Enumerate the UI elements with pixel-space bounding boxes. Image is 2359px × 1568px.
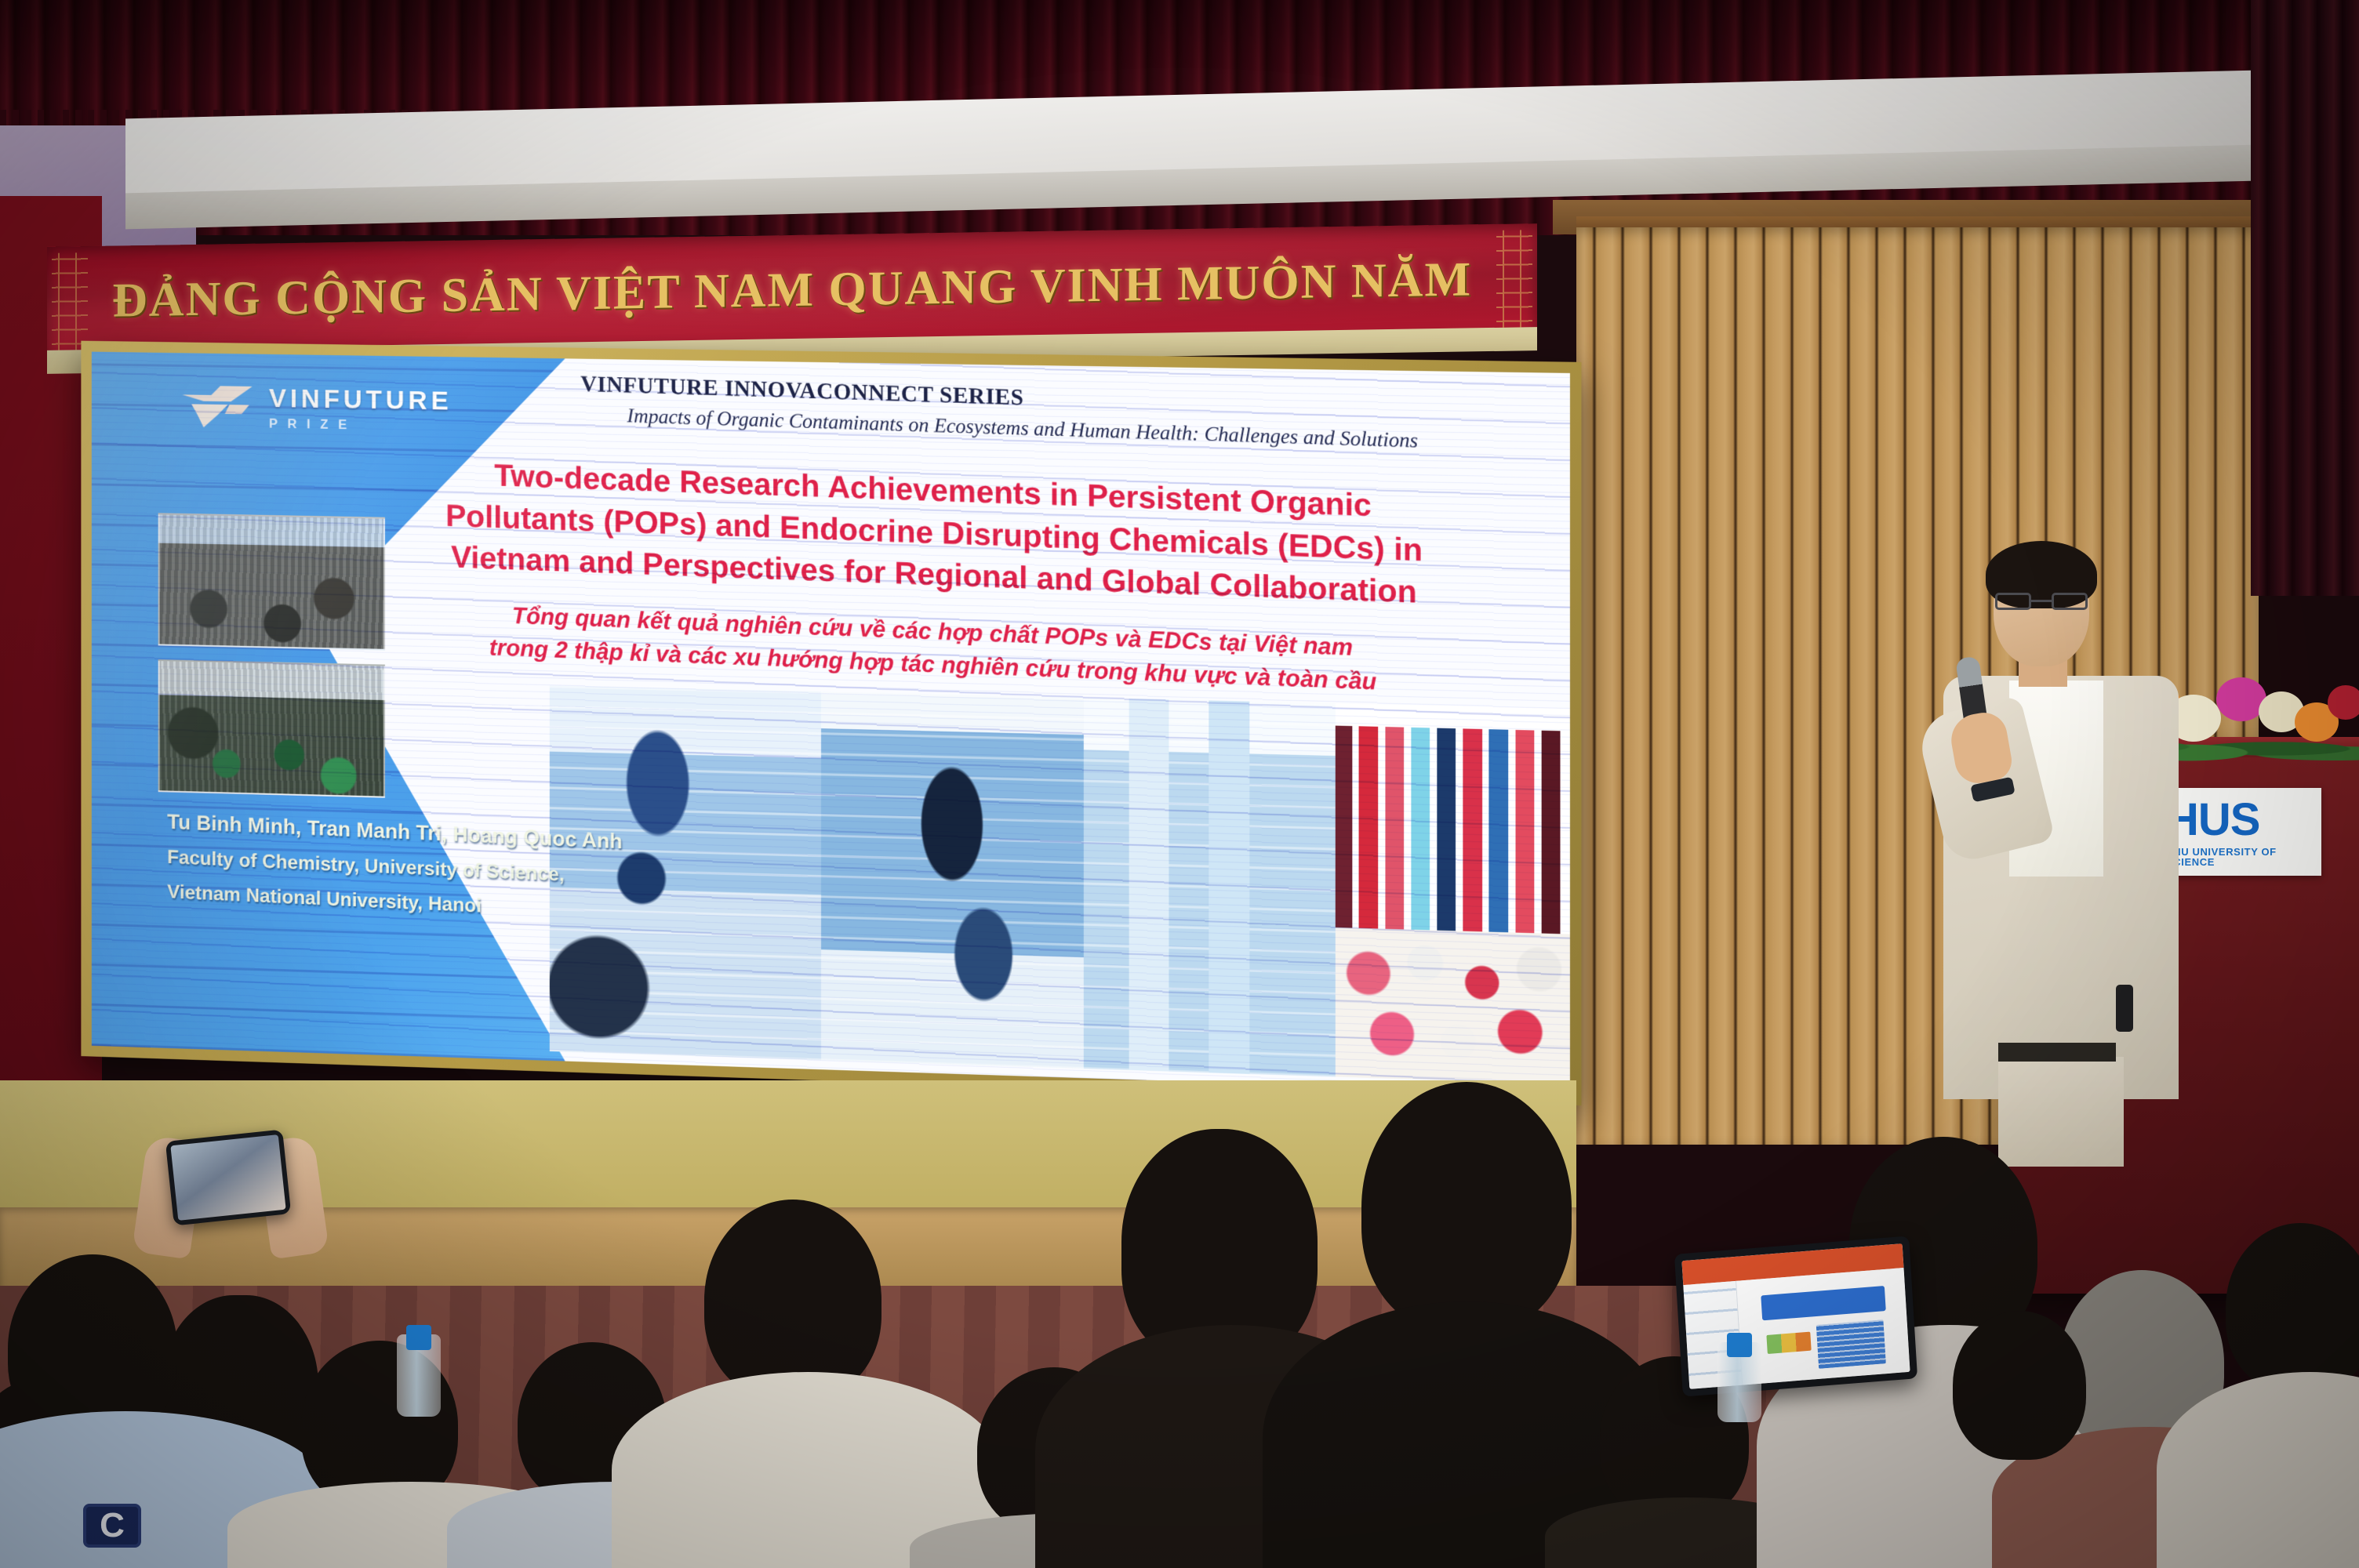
slide-affiliation-line1: Faculty of Chemistry, University of Scie… [167, 846, 622, 889]
vinfuture-wordmark: VINFUTURE PRIZE [269, 385, 453, 433]
vinfuture-vf-bird-icon [181, 384, 254, 430]
projection-screen-frame: VINFUTURE PRIZE VINFUTURE INNOVACONNECT … [81, 341, 1581, 1105]
bottle-cap [406, 1325, 431, 1350]
laptop-app-canvas [1736, 1268, 1910, 1385]
conference-hall-photo: ĐẢNG CỘNG SẢN VIỆT NAM QUANG VINH MUÔN N… [0, 0, 2359, 1568]
bottle-cap [1727, 1333, 1751, 1357]
eyeglass-bridge [2031, 600, 2052, 602]
vinfuture-name: VINFUTURE [269, 385, 453, 414]
presenter [1937, 549, 2204, 1160]
audience-laptop[interactable] [1674, 1236, 1917, 1396]
eyeglass-right-lens [2052, 593, 2088, 610]
chair-label-text: C [100, 1508, 125, 1543]
water-bottle [1717, 1333, 1761, 1435]
smartphone-screen [170, 1134, 285, 1221]
audience-member-right-3 [2188, 1200, 2359, 1568]
flower-rose-red [2328, 685, 2359, 720]
laptop-screen [1681, 1243, 1910, 1389]
eyeglasses-icon [1995, 593, 2088, 610]
slide-title-block: Two-decade Research Achievements in Pers… [419, 453, 1451, 702]
audience-head [1361, 1082, 1572, 1333]
vinfuture-tagline: PRIZE [269, 417, 453, 434]
audience-member-center [643, 1184, 957, 1568]
eyeglass-left-lens [1995, 593, 2031, 610]
laptop-slide-thumbs [1766, 1332, 1811, 1354]
presentation-slide: VINFUTURE PRIZE VINFUTURE INNOVACONNECT … [92, 352, 1570, 1094]
audience-head [1953, 1311, 2086, 1460]
audience-head [2226, 1223, 2359, 1392]
water-bottle [397, 1325, 441, 1430]
lab-microscope-photo [821, 691, 1083, 1069]
podium-gooseneck-microphone-icon [2116, 985, 2133, 1032]
audience-head [704, 1200, 881, 1400]
slide-header: VINFUTURE INNOVACONNECT SERIES Impacts o… [580, 372, 1556, 457]
stage-curtain-right [2251, 0, 2359, 596]
slide-photo-strip [550, 685, 1570, 1084]
laptop-slide-panel [1816, 1319, 1886, 1368]
laptop-slide-banner [1761, 1286, 1886, 1320]
e-waste-scrapyard-photo [158, 513, 385, 651]
pharmaceutical-pills [1336, 927, 1570, 1084]
consumer-products-photo [1336, 703, 1570, 1084]
projection-screen: VINFUTURE PRIZE VINFUTURE INNOVACONNECT … [92, 352, 1570, 1094]
e-waste-circuit-pile-photo [158, 659, 385, 798]
slide-title-english: Two-decade Research Achievements in Pers… [419, 453, 1451, 616]
presenter-belt [1998, 1043, 2116, 1062]
lab-glassware-photo [1083, 698, 1336, 1077]
vinfuture-logo: VINFUTURE PRIZE [181, 384, 453, 434]
product-bottles [1336, 726, 1570, 935]
smartphone-recording[interactable] [165, 1129, 291, 1225]
chair-label-c: C [83, 1504, 141, 1548]
